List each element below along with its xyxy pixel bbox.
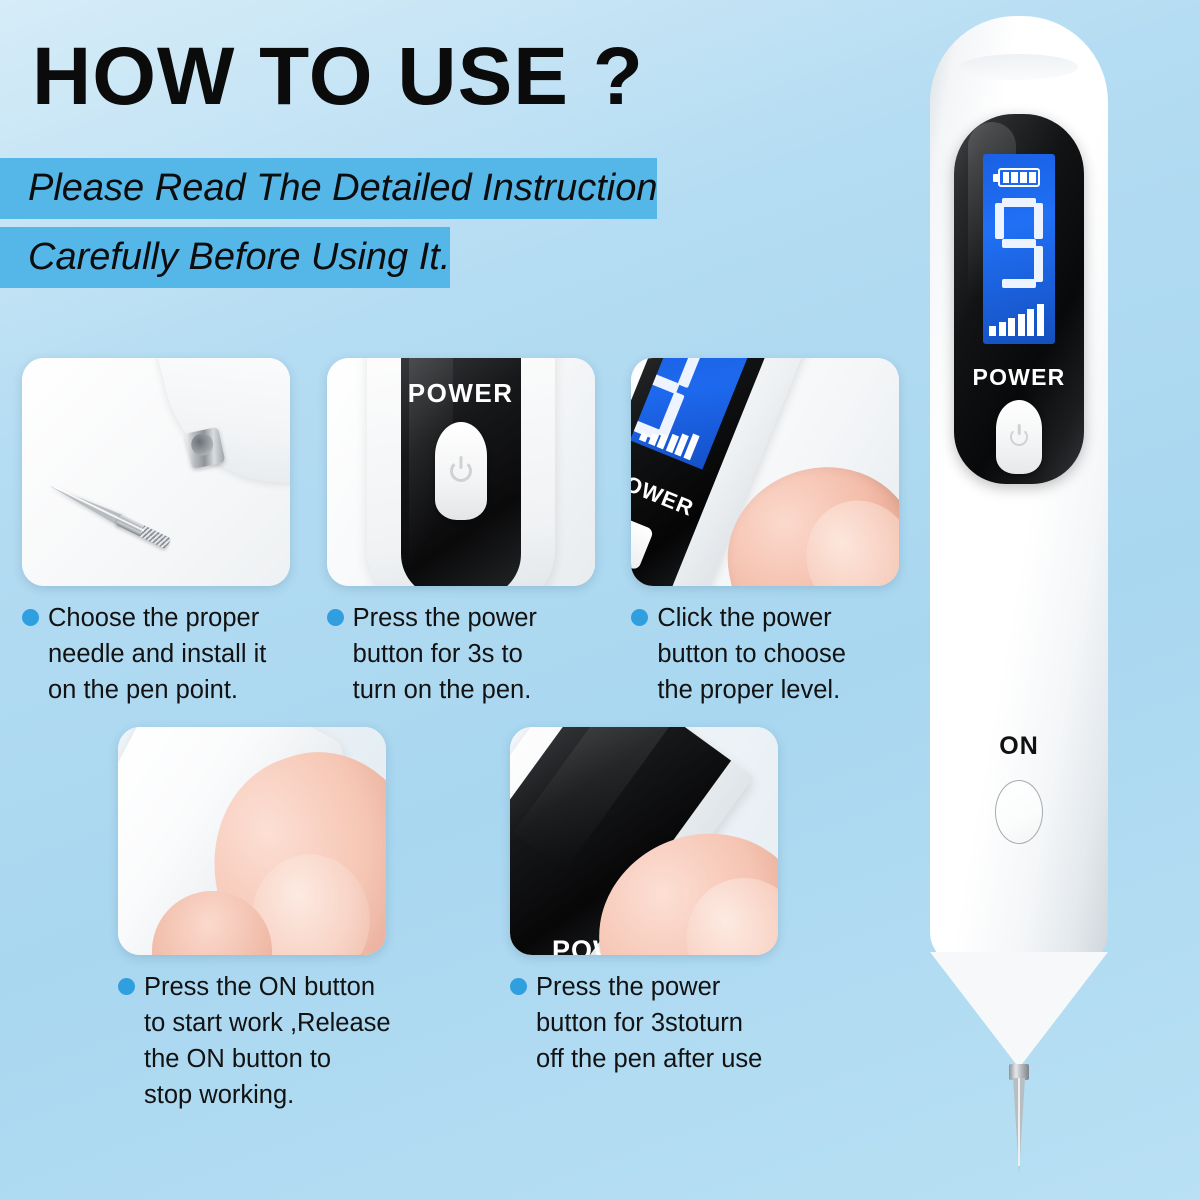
power-text-label: POWER: [954, 364, 1084, 391]
bullet-dot-icon: [631, 609, 648, 626]
steps-row-1: Choose the proper needle and install it …: [0, 358, 930, 709]
power-text-label: POWER: [401, 378, 521, 409]
needle-collar-icon: [185, 427, 226, 469]
steps-row-2: ON Press the ON button to start work ,Re…: [0, 727, 930, 1114]
power-off-press-photo: POWER: [510, 727, 778, 955]
subtitle-line-2: Carefully Before Using It.: [0, 227, 450, 288]
power-text-label: POWER: [631, 465, 697, 522]
thumbnail-icon: [664, 856, 778, 954]
bullet-dot-icon: [22, 609, 39, 626]
level-bar: [999, 322, 1006, 336]
level-bar: [639, 432, 648, 442]
power-symbol-icon: [450, 460, 472, 482]
power-button[interactable]: [631, 517, 654, 571]
segment-g: [637, 368, 680, 394]
bullet-dot-icon: [510, 978, 527, 995]
battery-cell: [1011, 172, 1018, 183]
power-button-closeup-photo: POWER: [327, 358, 595, 586]
segment-c: [1034, 246, 1043, 282]
thumbnail-icon: [787, 482, 900, 586]
pen-cone: [930, 952, 1108, 1068]
bullet-dot-icon: [327, 609, 344, 626]
power-button[interactable]: [996, 400, 1042, 474]
battery-icon: [998, 168, 1040, 187]
product-pen: POWER ON: [930, 16, 1108, 1016]
power-symbol-icon: [1010, 428, 1028, 446]
lcd-level-bars: [989, 302, 1044, 336]
step-3-caption: Click the power button to choose the pro…: [631, 600, 930, 709]
pen-taper: [930, 952, 1108, 1072]
black-control-panel: POWER: [954, 114, 1084, 484]
segment-b: [1034, 203, 1043, 239]
step-2-caption: Press the power button for 3s to turn on…: [327, 600, 632, 709]
battery-cell: [1020, 172, 1027, 183]
step-4-caption-text: Press the ON button to start work ,Relea…: [144, 969, 391, 1114]
steps-grid: Choose the proper needle and install it …: [0, 358, 930, 1113]
on-text-label: ON: [930, 732, 1108, 761]
subtitle-line-1: Please Read The Detailed Instruction: [0, 158, 657, 219]
on-button[interactable]: [995, 780, 1043, 844]
needle-and-pen-tip-photo: [22, 358, 290, 586]
thumb-clicking-power-photo: POWER: [631, 358, 899, 586]
step-1-caption-text: Choose the proper needle and install it …: [48, 600, 266, 709]
level-bar: [1027, 309, 1034, 336]
level-bar: [1008, 318, 1015, 336]
step-4: ON Press the ON button to start work ,Re…: [118, 727, 510, 1114]
step-3: POWER Click the power button to choose t…: [631, 358, 930, 709]
pen-cap-seam: [960, 54, 1078, 80]
pen-body: POWER ON: [930, 16, 1108, 966]
step-2: POWER Press the power button for 3s to t…: [327, 358, 632, 709]
segment-f: [995, 203, 1004, 239]
step-1: Choose the proper needle and install it …: [22, 358, 327, 709]
segment-b: [678, 358, 705, 388]
level-bar: [1018, 314, 1025, 336]
segment-g: [1002, 239, 1036, 248]
bullet-dot-icon: [118, 978, 135, 995]
lcd-level-digit: [995, 198, 1043, 288]
step-4-caption: Press the ON button to start work ,Relea…: [118, 969, 510, 1114]
on-button-press-photo: ON: [118, 727, 386, 955]
segment-d: [1002, 279, 1036, 288]
page-title: HOW TO USE ?: [0, 0, 900, 118]
step-5-caption: Press the power button for 3stoturn off …: [510, 969, 830, 1078]
step-2-caption-text: Press the power button for 3s to turn on…: [353, 600, 537, 709]
black-control-panel: POWER: [401, 358, 521, 586]
lcd-display: [983, 154, 1055, 344]
power-button[interactable]: [435, 422, 487, 520]
needle-highlight: [1018, 1078, 1020, 1166]
battery-cell: [1003, 172, 1010, 183]
step-3-caption-text: Click the power button to choose the pro…: [657, 600, 846, 709]
step-1-caption: Choose the proper needle and install it …: [22, 600, 327, 709]
header: HOW TO USE ? Please Read The Detailed In…: [0, 0, 900, 288]
battery-cell: [1029, 172, 1036, 183]
level-bar: [989, 326, 996, 336]
level-bar: [1037, 304, 1044, 336]
step-5-caption-text: Press the power button for 3stoturn off …: [536, 969, 762, 1078]
segment-a: [1002, 198, 1036, 207]
step-5: POWER Press the power button for 3stotur…: [510, 727, 830, 1114]
lcd-display: [631, 358, 750, 470]
